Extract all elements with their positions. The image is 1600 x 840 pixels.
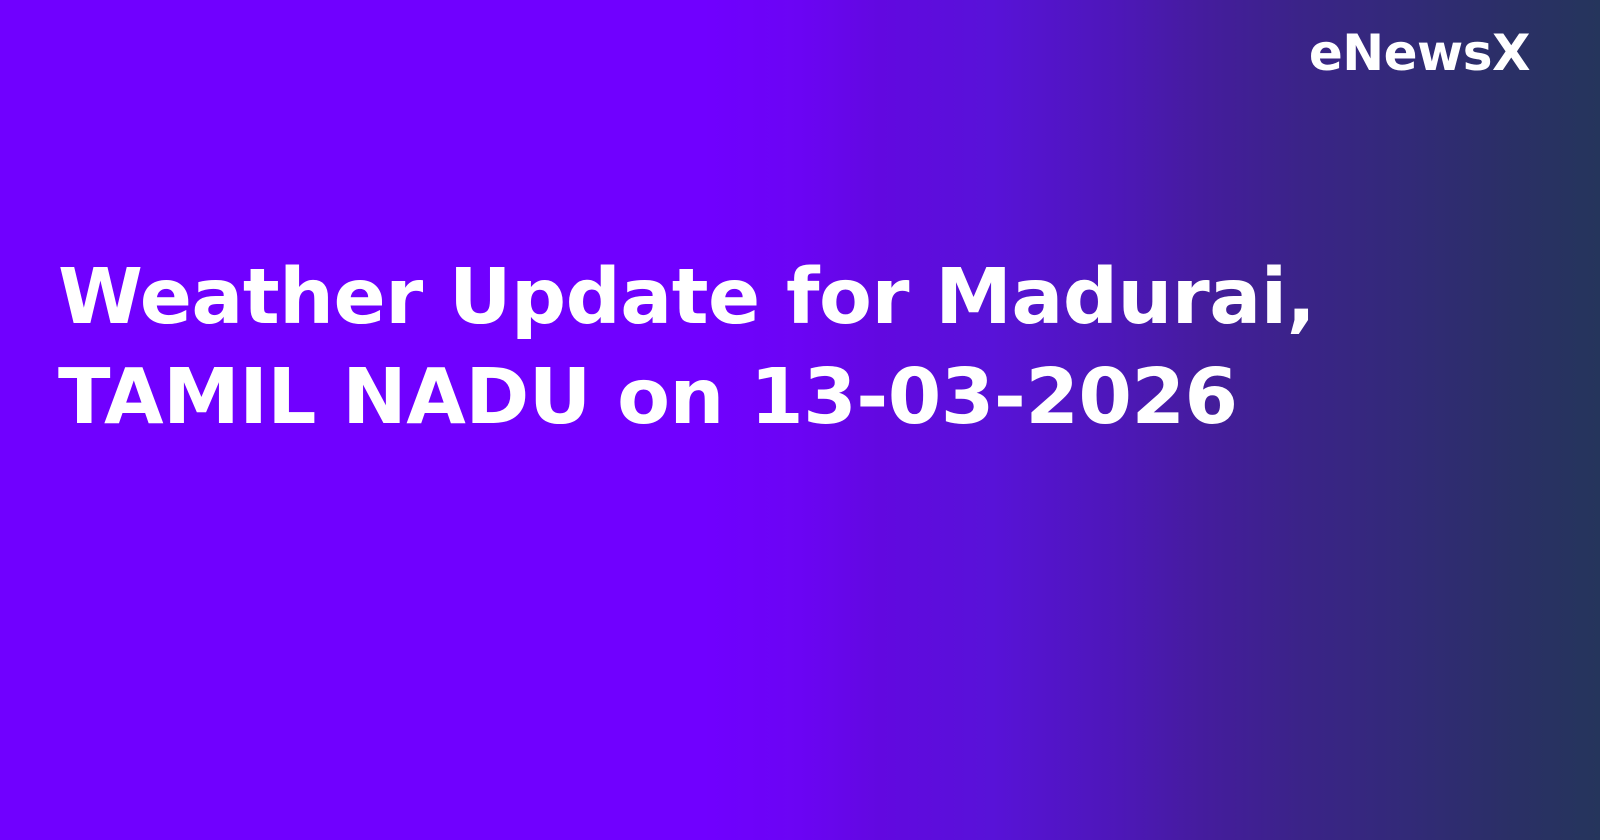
page-title: Weather Update for Madurai, TAMIL NADU o…: [58, 248, 1478, 448]
news-banner: eNewsX Weather Update for Madurai, TAMIL…: [0, 0, 1600, 840]
headline-container: Weather Update for Madurai, TAMIL NADU o…: [58, 248, 1478, 448]
brand-logo[interactable]: eNewsX: [1309, 26, 1530, 81]
